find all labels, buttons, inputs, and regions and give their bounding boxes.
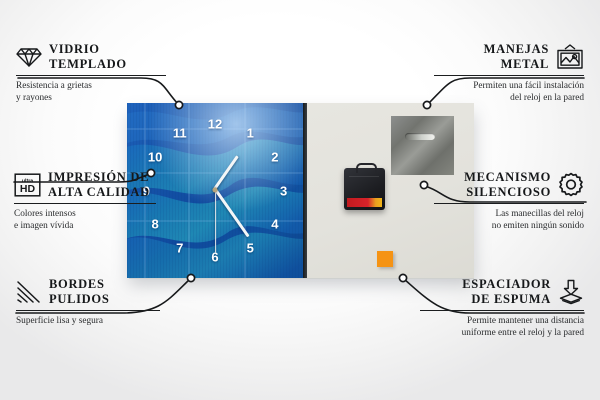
feature-title-line1: VIDRIO [49,42,100,56]
feature-title-line2: DE ESPUMA [471,292,551,306]
feature-title-line1: IMPRESIÓN DE [48,170,149,184]
feature-divider [420,310,584,311]
clock-number-10: 10 [148,151,162,164]
feature-title-line2: PULIDOS [49,292,109,306]
clock-mechanism [344,168,385,210]
metal-hanger-plate [391,116,454,175]
picture-hanger-icon [556,44,584,70]
feature-title-line1: MECANISMO [464,170,551,184]
ultra-hd-icon-main: HD [20,183,36,195]
feature-desc-line1: Superficie lisa y segura [16,316,103,326]
clock-number-5: 5 [247,242,254,255]
feature-hd-print: ultra HD IMPRESIÓN DE ALTA CALIDAD Color… [14,170,156,233]
mechanism-hook [356,163,377,173]
feature-desc-line2: no emiten ningún sonido [492,221,584,231]
feature-divider [14,203,156,204]
feature-desc-line2: del reloj en la pared [510,93,584,103]
hanger-slot [405,133,435,140]
feature-tempered-glass: VIDRIO TEMPLADO Resistencia a grietas y … [16,42,166,105]
feature-foam-spacer: ESPACIADOR DE ESPUMA Permite mantener un… [420,277,584,340]
clock-number-12: 12 [208,118,222,131]
clock-number-11: 11 [173,126,187,139]
clock-number-7: 7 [176,242,183,255]
feature-desc-line1: Resistencia a grietas [16,81,92,91]
feature-title-line2: SILENCIOSO [466,185,551,199]
feature-desc-line2: e imagen vívida [14,221,73,231]
clock-second-hand [215,191,216,253]
feature-title-line1: ESPACIADOR [462,277,551,291]
feature-divider [16,75,166,76]
product-image: 12 1 2 3 4 5 6 7 8 9 10 11 [127,103,474,278]
clock-number-2: 2 [271,151,278,164]
feature-desc-line1: Permite mantener una distancia [467,316,584,326]
clock-number-3: 3 [280,184,287,197]
diamond-icon [16,46,42,68]
clock-number-1: 1 [247,126,254,139]
feature-desc-line1: Permiten una fácil instalación [473,81,584,91]
feature-desc-line2: uniforme entre el reloj y la pared [462,328,584,338]
foam-spacer-icon [558,279,584,305]
feature-divider [16,310,160,311]
feature-title-line2: ALTA CALIDAD [48,185,150,199]
feature-divider [434,75,584,76]
orange-foam-spacer [377,251,393,267]
feature-title-line2: METAL [501,57,549,71]
feature-silent-mechanism: MECANISMO SILENCIOSO Las manecillas del … [434,170,584,233]
feature-title-line1: MANEJAS [484,42,549,56]
mechanism-seam [349,176,379,177]
clock-center-cap [213,188,218,193]
gear-icon [558,172,584,198]
feature-divider [434,203,584,204]
clock-number-4: 4 [271,217,278,230]
ultra-hd-icon: ultra HD [14,173,41,197]
infographic-canvas: 12 1 2 3 4 5 6 7 8 9 10 11 [0,0,600,400]
polished-edge-icon [16,281,42,303]
feature-desc-line2: y rayones [16,93,52,103]
feature-desc-line1: Las manecillas del reloj [495,209,584,219]
feature-title-line1: BORDES [49,277,105,291]
mechanism-label [347,198,382,207]
feature-desc-line1: Colores intensos [14,209,76,219]
feature-polished-edges: BORDES PULIDOS Superficie lisa y segura [16,277,160,327]
feature-metal-handles: MANEJAS METAL Permiten una fácil instala… [434,42,584,105]
feature-title-line2: TEMPLADO [49,57,127,71]
